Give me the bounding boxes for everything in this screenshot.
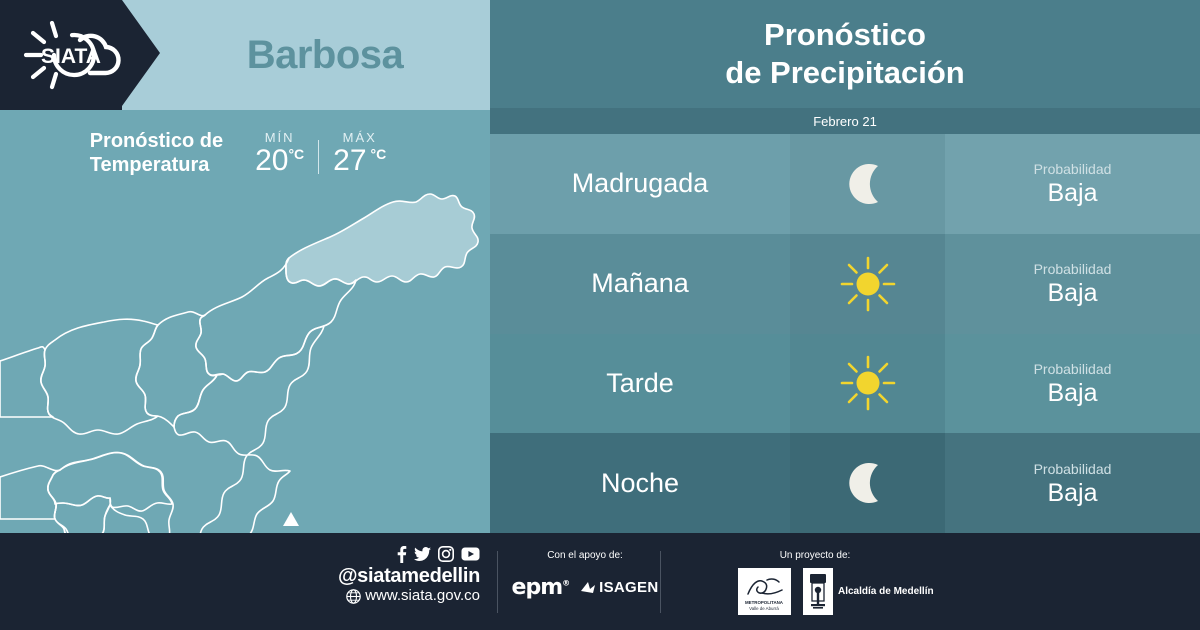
precipitation-header: Pronóstico de Precipitación — [490, 0, 1200, 108]
siata-logo-block: SIATA — [0, 0, 160, 110]
website-line[interactable]: www.siata.gov.co — [300, 587, 480, 604]
forecast-rows: Madrugada Probabilidad Baja Mañana — [490, 134, 1200, 533]
social-block: @siatamedellin www.siata.gov.co — [300, 545, 480, 605]
sun-icon — [837, 253, 899, 315]
globe-icon — [346, 589, 361, 604]
project-title: Un proyecto de: — [700, 550, 930, 561]
map-region-caldas — [64, 505, 168, 533]
temperature-max-unit: °C — [371, 146, 387, 162]
weather-icon-cell — [790, 134, 945, 234]
support-logos: epm® ISAGEN — [510, 575, 660, 600]
table-row: Tarde — [490, 334, 1200, 434]
probability-label: Probabilidad — [1034, 160, 1112, 179]
probability-cell: Probabilidad Baja — [945, 134, 1200, 234]
probability-value: Baja — [1047, 179, 1097, 207]
temperature-max-value: 27°C — [333, 146, 386, 176]
alcaldia-text: Alcaldía de Medellín — [838, 586, 934, 597]
period-label: Noche — [490, 433, 790, 533]
period-label: Madrugada — [490, 134, 790, 234]
temperature-min-value: 20°C — [255, 146, 304, 176]
temperature-title-line2: Temperatura — [90, 153, 223, 177]
table-row: Madrugada Probabilidad Baja — [490, 134, 1200, 234]
support-block: Con el apoyo de: epm® ISAGEN — [510, 550, 660, 600]
amva-line1: METROPOLITANA — [745, 600, 784, 605]
weather-icon-cell — [790, 334, 945, 434]
temperature-values: MÍN 20°C MÁX 27°C — [241, 130, 400, 176]
sun-icon — [837, 352, 899, 414]
map-region-parcel-b — [54, 496, 110, 533]
precipitation-title: Pronóstico de Precipitación — [725, 16, 964, 92]
support-title: Con el apoyo de: — [510, 550, 660, 561]
amva-line2: Valle de Aburrá — [749, 606, 779, 611]
epm-logo: epm® — [512, 575, 570, 600]
svg-text:SIATA: SIATA — [41, 45, 101, 68]
alcaldia-emblem — [803, 568, 833, 615]
temperature-max: MÁX 27°C — [319, 130, 400, 176]
social-icons — [300, 545, 480, 563]
map-region-itagui — [48, 453, 172, 512]
isagen-text: ISAGEN — [599, 579, 658, 596]
map-svg — [0, 185, 490, 533]
isagen-mark-icon — [579, 580, 597, 596]
map-region-parcel-a — [0, 466, 60, 519]
city-title: Barbosa — [160, 0, 490, 110]
weather-icon-cell — [790, 433, 945, 533]
temperature-min-unit: °C — [288, 146, 304, 162]
footer-divider — [497, 551, 498, 613]
twitter-icon[interactable] — [414, 547, 431, 562]
siata-logo: SIATA — [14, 14, 132, 96]
map-region-copacabana — [136, 312, 217, 427]
social-handle[interactable]: @siatamedellin — [300, 565, 480, 587]
weather-icon-cell — [790, 234, 945, 334]
probability-cell: Probabilidad Baja — [945, 234, 1200, 334]
period-label: Mañana — [490, 234, 790, 334]
left-header-band: SIATA Barbosa — [0, 0, 490, 110]
youtube-icon[interactable] — [461, 547, 480, 561]
map-region-barbosa — [286, 194, 478, 286]
period-label: Tarde — [490, 334, 790, 434]
project-logos: METROPOLITANA Valle de Aburrá — [700, 567, 930, 615]
temperature-min: MÍN 20°C — [241, 130, 318, 176]
website-url: www.siata.gov.co — [365, 587, 480, 604]
moon-icon — [840, 455, 896, 511]
table-row: Mañana — [490, 234, 1200, 334]
probability-label: Probabilidad — [1034, 260, 1112, 279]
table-row: Noche Probabilidad Baja — [490, 433, 1200, 533]
forecast-date: Febrero 21 — [490, 108, 1200, 134]
isagen-logo: ISAGEN — [579, 579, 658, 596]
alcaldia-emblem-icon — [803, 568, 833, 615]
map-region-bello — [41, 319, 158, 434]
instagram-icon[interactable] — [438, 546, 454, 562]
footer-divider — [660, 551, 661, 613]
temperature-summary: Pronóstico de Temperatura MÍN 20°C MÁX 2… — [0, 118, 490, 188]
project-block: Un proyecto de: — [700, 550, 930, 615]
map-region-medellin — [141, 326, 324, 533]
probability-cell: Probabilidad Baja — [945, 433, 1200, 533]
area-metropolitana-logo: METROPOLITANA Valle de Aburrá — [738, 568, 791, 615]
temperature-max-label: MÁX — [333, 130, 386, 145]
temperature-title: Pronóstico de Temperatura — [90, 129, 223, 178]
moon-icon — [840, 156, 896, 212]
amva-logo-icon: METROPOLITANA Valle de Aburrá — [738, 568, 791, 615]
weather-infographic: SIATA Barbosa Pronóstico de Temperatura … — [0, 0, 1200, 630]
precipitation-title-line2: de Precipitación — [725, 54, 964, 92]
probability-label: Probabilidad — [1034, 460, 1112, 479]
probability-value: Baja — [1047, 279, 1097, 307]
temperature-title-line1: Pronóstico de — [90, 129, 223, 153]
probability-cell: Probabilidad Baja — [945, 334, 1200, 434]
map-region-west-edge — [0, 347, 53, 417]
precipitation-title-line1: Pronóstico — [725, 16, 964, 54]
temperature-min-label: MÍN — [255, 130, 304, 145]
sun-cloud-icon: SIATA — [14, 14, 132, 96]
footer: @siatamedellin www.siata.gov.co Con el a… — [0, 533, 1200, 630]
probability-label: Probabilidad — [1034, 360, 1112, 379]
facebook-icon[interactable] — [396, 546, 407, 563]
temperature-panel: SIATA Barbosa Pronóstico de Temperatura … — [0, 0, 490, 533]
precipitation-panel: Pronóstico de Precipitación Febrero 21 M… — [490, 0, 1200, 533]
alcaldia-de-medellin-logo: Alcaldía de Medellín — [803, 568, 934, 615]
valle-de-aburra-map: N — [0, 185, 490, 533]
probability-value: Baja — [1047, 479, 1097, 507]
probability-value: Baja — [1047, 379, 1097, 407]
